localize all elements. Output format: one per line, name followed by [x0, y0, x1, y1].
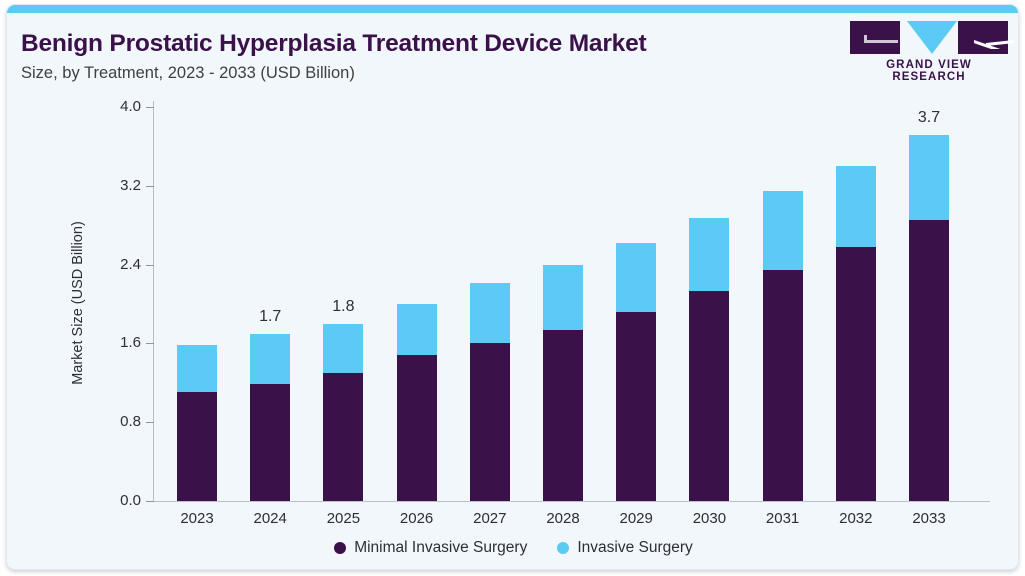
y-tick-mark [146, 501, 154, 502]
bar-segment [250, 384, 290, 501]
x-tick-label: 2025 [308, 510, 378, 527]
y-tick-label: 2.4 [91, 256, 141, 273]
bar-segment [177, 392, 217, 501]
bar-segment [836, 166, 876, 247]
legend-label: Invasive Surgery [577, 539, 692, 557]
bar-segment [543, 330, 583, 501]
bar-value-label: 1.7 [235, 308, 305, 326]
y-tick-label: 1.6 [91, 334, 141, 351]
y-axis-title: Market Size (USD Billion) [70, 188, 86, 418]
plot-area: Market Size (USD Billion) 0.00.81.62.43.… [7, 5, 1019, 570]
y-tick-label: 4.0 [91, 98, 141, 115]
bar-segment [909, 220, 949, 501]
chart-infographic: Benign Prostatic Hyperplasia Treatment D… [0, 0, 1025, 576]
y-tick-mark [146, 265, 154, 266]
legend-color-dot-icon [557, 542, 569, 554]
y-tick-mark [146, 186, 154, 187]
x-tick-label: 2033 [894, 510, 964, 527]
chart-card: Benign Prostatic Hyperplasia Treatment D… [6, 4, 1019, 570]
bar-segment [616, 243, 656, 312]
bar-segment [323, 324, 363, 373]
bar-segment [397, 355, 437, 501]
x-tick-label: 2027 [455, 510, 525, 527]
bar-segment [177, 345, 217, 391]
x-tick-label: 2026 [382, 510, 452, 527]
bar-segment [763, 191, 803, 270]
bar-segment [689, 218, 729, 291]
bar-segment [763, 270, 803, 501]
y-tick-mark [146, 422, 154, 423]
bar-segment [397, 304, 437, 355]
y-tick-label: 0.8 [91, 413, 141, 430]
legend-color-dot-icon [334, 542, 346, 554]
x-tick-label: 2024 [235, 510, 305, 527]
x-tick-label: 2030 [674, 510, 744, 527]
x-tick-label: 2032 [821, 510, 891, 527]
y-tick-mark [146, 107, 154, 108]
bar-segment [250, 334, 290, 384]
bar-segment [470, 283, 510, 343]
bar-segment [836, 247, 876, 501]
y-tick-label: 0.0 [91, 492, 141, 509]
bar-segment [543, 265, 583, 330]
x-tick-label: 2029 [601, 510, 671, 527]
x-axis-line [153, 501, 990, 502]
legend-item[interactable]: Invasive Surgery [557, 539, 692, 557]
x-tick-label: 2028 [528, 510, 598, 527]
bar-segment [323, 373, 363, 501]
x-tick-label: 2023 [162, 510, 232, 527]
chart-legend: Minimal Invasive SurgeryInvasive Surgery [7, 539, 1019, 557]
legend-label: Minimal Invasive Surgery [354, 539, 527, 557]
y-tick-label: 3.2 [91, 177, 141, 194]
bar-segment [616, 312, 656, 501]
legend-item[interactable]: Minimal Invasive Surgery [334, 539, 527, 557]
x-tick-label: 2031 [748, 510, 818, 527]
bar-segment [470, 343, 510, 501]
y-tick-mark [146, 343, 154, 344]
bar-segment [689, 291, 729, 501]
bar-value-label: 3.7 [894, 109, 964, 127]
bar-segment [909, 135, 949, 221]
y-axis-line [153, 101, 154, 501]
bar-value-label: 1.8 [308, 298, 378, 316]
